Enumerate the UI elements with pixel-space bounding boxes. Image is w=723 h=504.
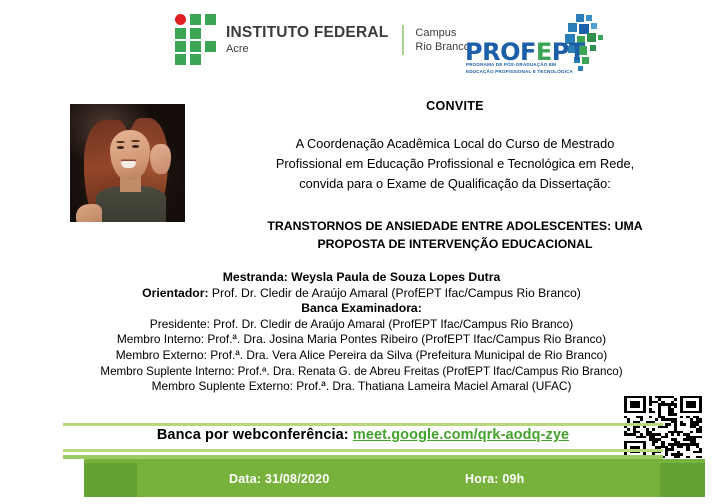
people-section: Mestranda: Weysla Paula de Souza Lopes D… [0,270,723,395]
footer-bar: Data: 31/08/2020 Hora: 09h [84,463,705,497]
footer-date: Data: 31/08/2020 [229,472,330,486]
photo-eyebrow-right [131,140,140,142]
thesis-title: TRANSTORNOS DE ANSIEDADE ENTRE ADOLESCEN… [195,217,715,253]
intro-line-1: A Coordenação Acadêmica Local do Curso d… [195,134,715,154]
photo-eye-right [132,145,139,148]
footer-cap-right [660,463,705,497]
photo-face [110,130,150,180]
profept-logo: PROFEPT PROGRAMA DE PÓS-GRADUAÇÃO EM EDU… [462,12,612,80]
banca-member-suplente-externo: Membro Suplente Externo: Prof.ª. Dra. Th… [0,379,723,395]
banca-heading: Banca Examinadora: [0,301,723,317]
header: INSTITUTO FEDERAL Acre Campus Rio Branco [0,0,723,90]
banca-member-suplente-interno: Membro Suplente Interno: Prof.ª. Dra. Re… [0,364,723,380]
mestranda-photo [70,104,185,222]
photo-eye-left [117,146,124,149]
webconference-line: Banca por webconferência: meet.google.co… [63,427,663,443]
thesis-title-line-2: PROPOSTA DE INTERVENÇÃO EDUCACIONAL [195,235,715,253]
mestranda-row: Mestranda: Weysla Paula de Souza Lopes D… [0,270,723,286]
orientador-label: Orientador: [142,286,208,300]
intro-line-3: convida para o Exame de Qualificação da … [195,174,715,194]
instituto-federal-logo: INSTITUTO FEDERAL Acre Campus Rio Branco [175,14,470,66]
mestranda-label: Mestranda: [223,270,288,284]
thesis-title-line-1: TRANSTORNOS DE ANSIEDADE ENTRE ADOLESCEN… [195,217,715,235]
webconf-rule-top [63,423,663,426]
mestranda-value: Weysla Paula de Souza Lopes Dutra [288,270,500,284]
profept-wordmark: PROFEPT [465,40,585,64]
instituto-federal-wordmark: INSTITUTO FEDERAL Acre [226,25,388,55]
orientador-row: Orientador: Prof. Dr. Cledir de Araújo A… [0,286,723,302]
banca-member-interno: Membro Interno: Prof.ª. Dra. Josina Mari… [0,332,723,348]
page-title: CONVITE [195,99,715,113]
webconference-link[interactable]: meet.google.com/qrk-aodq-zye [353,427,569,443]
profept-subtitle: PROGRAMA DE PÓS-GRADUAÇÃO EM EDUCAÇÃO PR… [466,62,573,75]
profept-subtitle-line2: EDUCAÇÃO PROFISSIONAL E TECNOLÓGICA [466,69,573,76]
photo-eyebrow-left [116,141,125,143]
orientador-value: Prof. Dr. Cledir de Araújo Amaral (ProfE… [209,286,581,300]
photo-hand [150,144,171,174]
if-title: INSTITUTO FEDERAL [226,25,388,41]
intro-line-2: Profissional em Educação Profissional e … [195,154,715,174]
if-subtitle: Acre [226,44,388,55]
photo-arm [76,204,102,222]
banca-member-presidente: Presidente: Prof. Dr. Cledir de Araújo A… [0,317,723,333]
banca-member-externo: Membro Externo: Prof.ª. Dra. Vera Alice … [0,348,723,364]
footer-time: Hora: 09h [465,472,524,486]
invitation-intro: A Coordenação Acadêmica Local do Curso d… [195,134,715,194]
footer-cap-left [84,463,137,497]
instituto-federal-mark-icon [175,14,217,66]
webconference-label: Banca por webconferência: [157,427,353,443]
webconf-rule-bottom [63,449,663,452]
campus-divider [402,25,404,55]
photo-smile [121,161,136,168]
